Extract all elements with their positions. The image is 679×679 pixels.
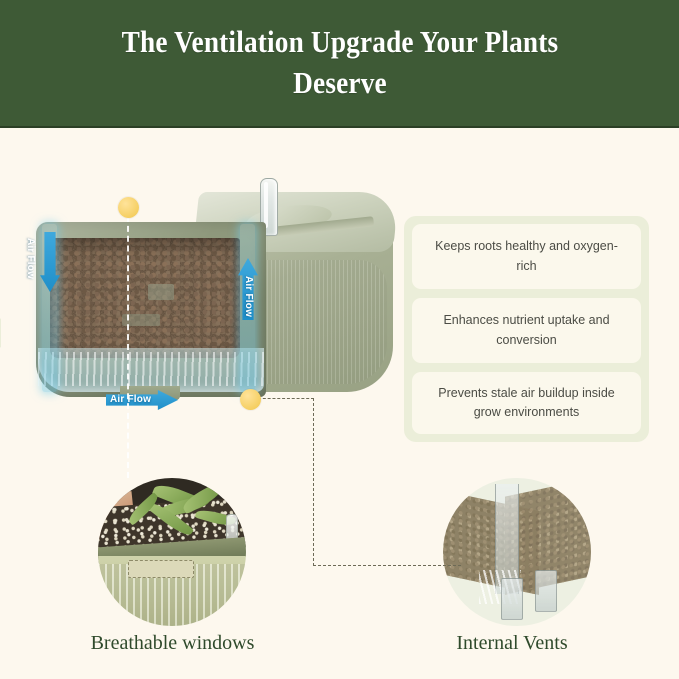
detail-caption-breathable-windows: Breathable windows — [0, 632, 345, 655]
detail-caption-internal-vents: Internal Vents — [345, 632, 679, 655]
connector-line-bottom-horizontal-1 — [258, 398, 314, 399]
photo-vent-window-tag — [128, 560, 194, 578]
detail-photo-internal-vents — [443, 478, 591, 626]
benefits-panel-pointer — [0, 318, 1, 348]
benefit-card-text: Enhances nutrient uptake and conversion — [428, 311, 625, 350]
airflow-label-bottom: Air Flow — [110, 394, 151, 405]
page-title: The Ventilation Upgrade Your Plants Dese… — [76, 22, 604, 104]
product-cutaway-illustration: Air Flow Air Flow Air Flow — [28, 168, 398, 433]
connector-line-bottom-vertical — [313, 398, 314, 566]
benefit-card: Keeps roots healthy and oxygen-rich — [412, 224, 641, 289]
detail-photo-breathable-windows — [98, 478, 246, 626]
benefit-card: Enhances nutrient uptake and conversion — [412, 298, 641, 363]
benefit-card-text: Keeps roots healthy and oxygen-rich — [428, 237, 625, 276]
photo-vent-leg — [535, 570, 557, 612]
connector-line-top — [127, 216, 129, 478]
marker-dot-top — [118, 197, 139, 218]
infographic-page: The Ventilation Upgrade Your Plants Dese… — [0, 0, 679, 679]
photo-vent-leg — [501, 578, 523, 620]
header-banner: The Ventilation Upgrade Your Plants Dese… — [0, 0, 679, 128]
benefit-card: Prevents stale air buildup inside grow e… — [412, 372, 641, 434]
connector-line-bottom-horizontal-2 — [313, 565, 461, 566]
airflow-label-middle: Air Flow — [243, 276, 254, 317]
marker-dot-bottom — [240, 389, 261, 410]
soil-mass — [50, 238, 240, 358]
benefit-card-text: Prevents stale air buildup inside grow e… — [428, 384, 625, 423]
soil-inner-component — [148, 284, 174, 300]
airflow-label-left: Air Flow — [25, 238, 36, 279]
